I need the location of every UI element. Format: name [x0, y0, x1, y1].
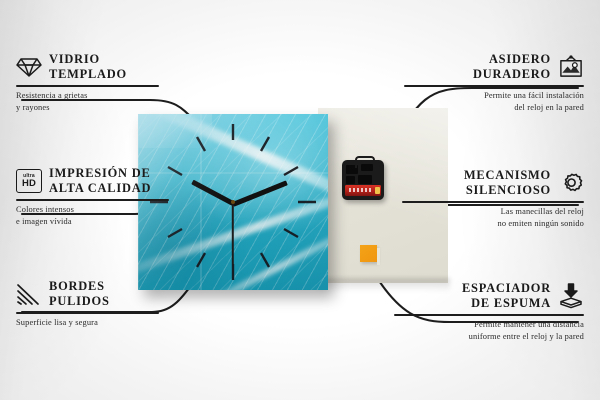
feature-title: BORDES PULIDOS — [49, 279, 110, 309]
feature-title-line2: ALTA CALIDAD — [49, 181, 151, 196]
feature-desc-line2: uniforme entre el reloj y la pared — [394, 331, 584, 343]
feature-title-line2: DE ESPUMA — [462, 296, 551, 311]
diamond-icon — [16, 54, 42, 80]
ultra-hd-icon: ultra HD — [16, 168, 42, 194]
feature-desc-line1: Superficie lisa y segura — [16, 317, 176, 329]
feature-description: Resistencia a grietas y rayones — [16, 90, 176, 114]
feature-title-line1: ESPACIADOR — [462, 281, 551, 296]
feature-description: Superficie lisa y segura — [16, 317, 176, 329]
feature-rule — [16, 199, 169, 201]
feature-title-line2: DURADERO — [473, 67, 551, 82]
clock-second-hand — [232, 203, 234, 265]
feature-description: Permite mantener una distancia uniforme … — [394, 319, 584, 343]
feature-title-line1: ASIDERO — [473, 52, 551, 67]
feature-bordes-pulidos: BORDES PULIDOS Superficie lisa y segura — [16, 279, 176, 329]
polished-edges-icon — [16, 281, 42, 307]
hanging-frame-icon — [558, 54, 584, 80]
feature-title-line1: IMPRESIÓN DE — [49, 166, 151, 181]
feature-desc-line2: e imagen vívida — [16, 216, 186, 228]
feature-desc-line2: y rayones — [16, 102, 176, 114]
feature-description: Permite una fácil instalación del reloj … — [404, 90, 584, 114]
mechanism-hanger-tab — [355, 156, 375, 168]
hd-icon-main-text: HD — [22, 179, 36, 189]
feature-title: ESPACIADOR DE ESPUMA — [462, 281, 551, 311]
feature-desc-line1: Permite una fácil instalación — [404, 90, 584, 102]
feature-espaciador-de-espuma: ESPACIADOR DE ESPUMA Permite mantener un… — [394, 281, 584, 343]
feature-title-line1: VIDRIO — [49, 52, 127, 67]
feature-title-line2: SILENCIOSO — [464, 183, 551, 198]
feature-title: ASIDERO DURADERO — [473, 52, 551, 82]
feature-desc-line1: Colores intensos — [16, 204, 186, 216]
feature-mecanismo-silencioso: MECANISMO SILENCIOSO Las manecillas del … — [402, 168, 584, 230]
feature-title: MECANISMO SILENCIOSO — [464, 168, 551, 198]
feature-description: Colores intensos e imagen vívida — [16, 204, 186, 228]
feature-desc-line2: no emiten ningún sonido — [402, 218, 584, 230]
feature-desc-line1: Las manecillas del reloj — [402, 206, 584, 218]
foam-spacer-icon — [558, 283, 584, 309]
feature-title-line1: BORDES — [49, 279, 110, 294]
feature-rule — [402, 201, 584, 203]
feature-rule — [394, 314, 584, 316]
feature-description: Las manecillas del reloj no emiten ningú… — [402, 206, 584, 230]
gear-icon — [558, 170, 584, 196]
feature-vidrio-templado: VIDRIO TEMPLADO Resistencia a grietas y … — [16, 52, 176, 114]
feature-desc-line1: Resistencia a grietas — [16, 90, 176, 102]
feature-title: IMPRESIÓN DE ALTA CALIDAD — [49, 166, 151, 196]
feature-title-line1: MECANISMO — [464, 168, 551, 183]
feature-desc-line1: Permite mantener una distancia — [394, 319, 584, 331]
feature-impresion-alta-calidad: ultra HD IMPRESIÓN DE ALTA CALIDAD Color… — [16, 166, 186, 228]
feature-title-line2: PULIDOS — [49, 294, 110, 309]
feature-title-line2: TEMPLADO — [49, 67, 127, 82]
feature-asidero-duradero: ASIDERO DURADERO Permite una fácil insta… — [404, 52, 584, 114]
feature-rule — [16, 312, 159, 314]
feature-rule — [404, 85, 584, 87]
feature-desc-line2: del reloj en la pared — [404, 102, 584, 114]
infographic-canvas: VIDRIO TEMPLADO Resistencia a grietas y … — [0, 0, 600, 400]
feature-title: VIDRIO TEMPLADO — [49, 52, 127, 82]
feature-rule — [16, 85, 159, 87]
clock-center-cap — [231, 200, 235, 204]
battery — [345, 185, 381, 196]
foam-spacer — [360, 245, 377, 262]
